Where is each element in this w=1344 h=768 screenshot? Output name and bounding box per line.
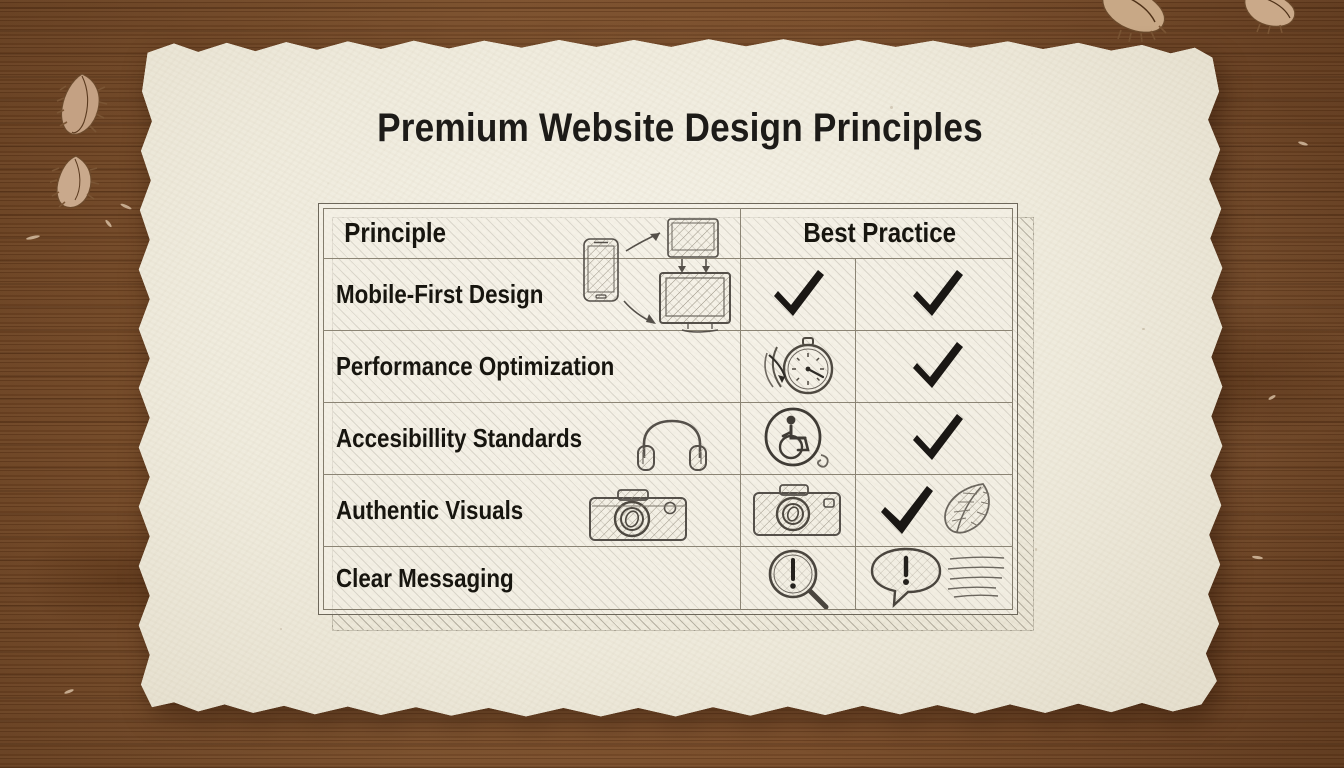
table-column-divider xyxy=(855,258,856,610)
best-practice-cell xyxy=(742,330,854,402)
principle-label: Mobile-First Design xyxy=(336,279,543,310)
best-practice-cell xyxy=(742,258,854,330)
best-practice-cell xyxy=(742,474,854,546)
table-row: Performance Optimization xyxy=(336,330,736,402)
magnifier-exclamation-icon xyxy=(760,547,836,609)
best-practice-cell xyxy=(742,546,854,610)
camera-icon xyxy=(584,486,694,544)
wood-dust xyxy=(104,219,112,228)
speech-bubble-exclamation-icon xyxy=(864,547,1010,609)
check-mark-icon xyxy=(905,338,969,394)
stopwatch-icon xyxy=(755,333,841,399)
paper-fleck xyxy=(280,628,282,630)
best-practice-extra-cell xyxy=(857,258,1017,330)
pencil-shaving xyxy=(1240,0,1300,34)
torn-paper-sheet: Premium Website Design Principles Princi… xyxy=(130,28,1230,734)
wheelchair-accessibility-icon xyxy=(755,405,841,471)
pencil-shaving xyxy=(52,70,112,140)
best-practice-extra-cell xyxy=(857,330,1017,402)
paper-fleck xyxy=(1035,548,1037,551)
wood-dust xyxy=(64,688,74,694)
principle-label: Clear Messaging xyxy=(336,563,514,594)
table-header-best-practice: Best Practice xyxy=(742,208,1018,258)
wood-dust xyxy=(1298,141,1308,147)
header-label: Principle xyxy=(344,217,446,249)
headphones-icon xyxy=(634,416,710,472)
paper-fleck xyxy=(1142,328,1145,330)
best-practice-extra-cell xyxy=(857,402,1017,474)
principles-table: Principle Best Practice xyxy=(318,203,1018,615)
best-practice-extra-cell xyxy=(857,474,1017,546)
table-row: Mobile-First Design xyxy=(336,258,736,330)
wood-dust xyxy=(26,235,40,241)
best-practice-cell xyxy=(742,402,854,474)
wood-dust xyxy=(1252,555,1263,560)
best-practice-extra-cell xyxy=(857,546,1017,610)
principle-label: Accesibillity Standards xyxy=(336,423,582,454)
check-mark-icon xyxy=(905,410,969,466)
table-row: Authentic Visuals xyxy=(336,474,586,546)
table-column-divider xyxy=(740,208,741,610)
header-label: Best Practice xyxy=(804,217,957,249)
check-mark-icon xyxy=(905,266,969,322)
paper-surface: Premium Website Design Principles Princi… xyxy=(130,28,1230,734)
camera-icon xyxy=(750,481,846,539)
principle-label: Performance Optimization xyxy=(336,351,614,382)
desk-scene: Premium Website Design Principles Princi… xyxy=(0,0,1344,768)
check-mark-with-leaf-icon xyxy=(873,478,1001,542)
table-row: Accesibillity Standards xyxy=(336,402,626,474)
table-row: Clear Messaging xyxy=(336,546,736,610)
principle-label: Authentic Visuals xyxy=(336,495,523,526)
page-title: Premium Website Design Principles xyxy=(196,106,1164,151)
check-mark-icon xyxy=(766,266,830,322)
wood-dust xyxy=(1268,394,1276,401)
pencil-shaving xyxy=(48,152,104,212)
